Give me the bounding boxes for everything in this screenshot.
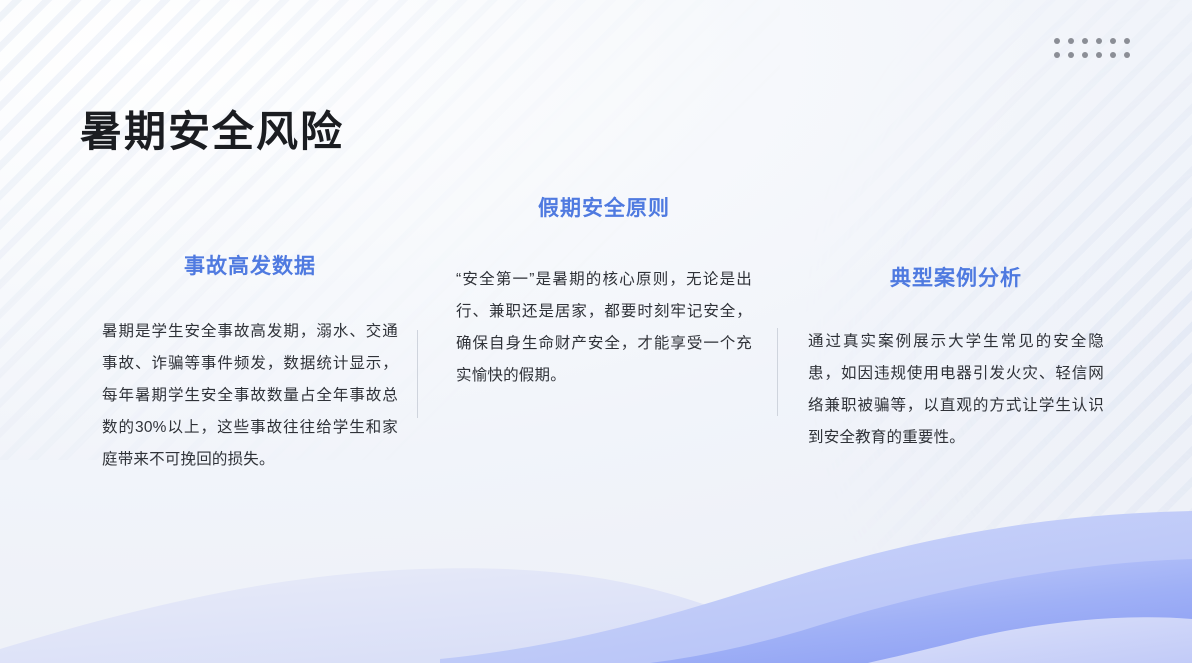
dot — [1110, 38, 1116, 44]
column-body-1: 暑期是学生安全事故高发期，溺水、交通事故、诈骗等事件频发，数据统计显示，每年暑期… — [102, 316, 398, 476]
dot — [1082, 38, 1088, 44]
dot — [1124, 52, 1130, 58]
dot — [1054, 52, 1060, 58]
column-heading-1: 事故高发数据 — [102, 250, 398, 280]
column-heading-3: 典型案例分析 — [808, 262, 1104, 292]
dot — [1110, 52, 1116, 58]
dot — [1082, 52, 1088, 58]
page-title: 暑期安全风险 — [80, 98, 344, 159]
dot-grid-decoration — [1050, 34, 1134, 62]
column-heading-2: 假期安全原则 — [456, 192, 752, 222]
column-divider-1 — [417, 330, 418, 418]
dot — [1124, 38, 1130, 44]
column-body-3: 通过真实案例展示大学生常见的安全隐患，如因违规使用电器引发火灾、轻信网络兼职被骗… — [808, 326, 1104, 454]
content-column-3: 典型案例分析 通过真实案例展示大学生常见的安全隐患，如因违规使用电器引发火灾、轻… — [808, 262, 1104, 454]
dot — [1096, 52, 1102, 58]
column-body-2: “安全第一”是暑期的核心原则，无论是出行、兼职还是居家，都要时刻牢记安全，确保自… — [456, 264, 752, 392]
dot — [1068, 38, 1074, 44]
presentation-slide: 暑期安全风险 事故高发数据 暑期是学生安全事故高发期，溺水、交通事故、诈骗等事件… — [0, 0, 1192, 663]
column-divider-2 — [777, 328, 778, 416]
content-column-2: 假期安全原则 “安全第一”是暑期的核心原则，无论是出行、兼职还是居家，都要时刻牢… — [456, 192, 752, 392]
content-column-1: 事故高发数据 暑期是学生安全事故高发期，溺水、交通事故、诈骗等事件频发，数据统计… — [102, 250, 398, 476]
dot — [1068, 52, 1074, 58]
dot — [1096, 38, 1102, 44]
dot — [1054, 38, 1060, 44]
